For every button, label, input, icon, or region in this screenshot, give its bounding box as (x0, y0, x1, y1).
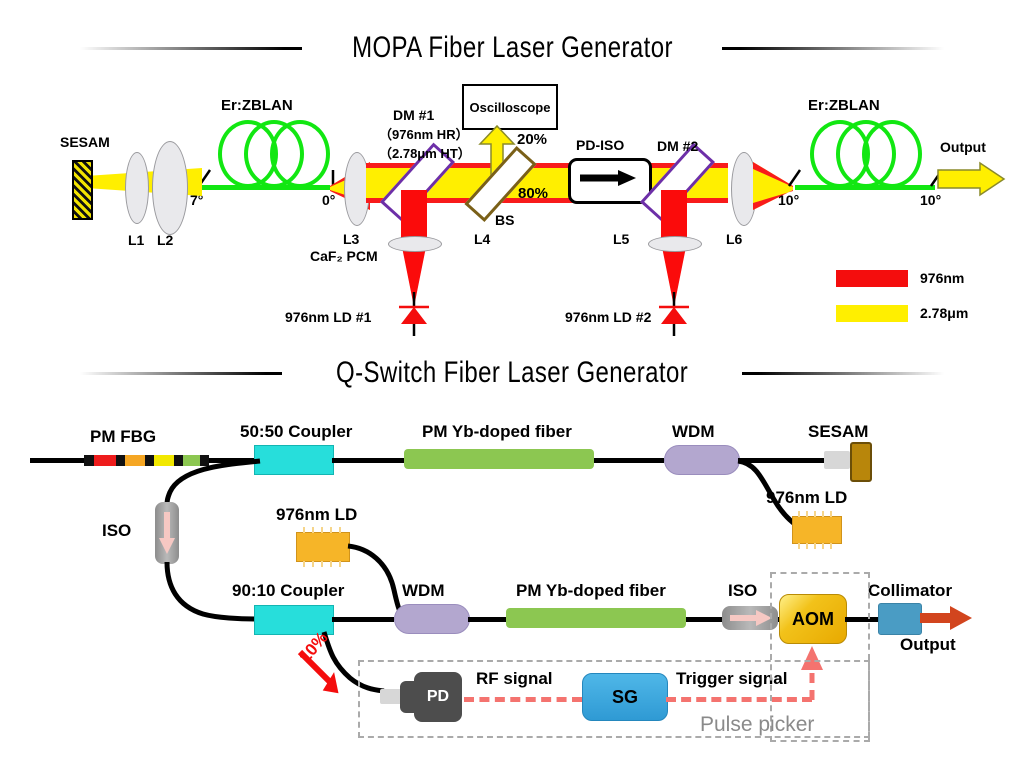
label-transmit-80: 80% (518, 186, 548, 201)
wdm-top (664, 445, 740, 475)
mopa-title-text: MOPA Fiber Laser Generator (344, 31, 681, 65)
label-ld-mid: 976nm LD (276, 506, 357, 523)
label-wdm-top: WDM (672, 423, 714, 440)
angle-10deg-left: 10° (778, 193, 799, 207)
legend-label-278: 2.78μm (920, 306, 968, 320)
qswitch-title-text: Q-Switch Fiber Laser Generator (328, 356, 696, 390)
fiber-yb-to-wdm-top (594, 458, 664, 463)
label-l6: L6 (726, 232, 742, 246)
section-title-qswitch: Q-Switch Fiber Laser Generator (0, 353, 1024, 393)
sesam-mirror (72, 160, 93, 220)
fbg-segment (116, 455, 125, 466)
lens-l1 (125, 152, 149, 224)
label-l3: L3 (343, 232, 359, 246)
wdm-bottom (394, 604, 470, 634)
title-rule-left-2 (80, 372, 282, 375)
fiber-coupler-to-wdm-bottom (332, 617, 394, 622)
label-l5: L5 (613, 232, 629, 246)
caf2-pcm-text: CaF₂ PCM (310, 248, 378, 264)
pump-beam-dm2 (661, 190, 687, 242)
fiber-top-left-lead (30, 458, 84, 463)
lens-l2 (152, 141, 188, 235)
legend-label-976: 976nm (920, 271, 964, 285)
section-title-mopa: MOPA Fiber Laser Generator (0, 28, 1024, 68)
label-coupler-50-50: 50:50 Coupler (240, 423, 352, 440)
angle-10deg-right: 10° (920, 193, 941, 207)
pm-yb-fiber-top (404, 449, 594, 469)
label-wdm-bottom: WDM (402, 582, 444, 599)
er-zblan-coil-right (810, 120, 922, 188)
label-reflect-20: 20% (517, 132, 547, 147)
laser-diode-2-symbol (655, 292, 695, 336)
laser-diode-1-symbol (395, 292, 435, 336)
legend-swatch-278 (836, 305, 908, 322)
label-sesam-bottom: SESAM (808, 423, 868, 440)
pm-yb-fiber-bottom (506, 608, 686, 628)
output-arrow-top (938, 163, 1004, 195)
label-dm1-spec-hr: （976nm HR） (379, 128, 469, 141)
ld-chip-top[interactable] (792, 516, 842, 544)
label-yb-fiber-bottom: PM Yb-doped fiber (516, 582, 666, 599)
title-rule-right (722, 47, 944, 50)
label-l4: L4 (474, 232, 490, 246)
label-dm1-spec-ht: （2.78μm HT） (379, 147, 471, 160)
er-zblan-coil-left (218, 120, 330, 188)
label-yb-fiber-top: PM Yb-doped fiber (422, 423, 572, 440)
pump-beam-dm1 (401, 190, 427, 242)
lens-l4-collimator (388, 236, 442, 252)
label-l3-material: CaF₂ PCM (310, 249, 378, 263)
label-l1: L1 (128, 233, 144, 247)
label-ld-top: 976nm LD (766, 489, 847, 506)
lens-l5-collimator (648, 236, 702, 252)
fiber-wdm-to-yb-bottom (468, 617, 506, 622)
label-dm1: DM #1 (393, 108, 434, 122)
oscilloscope-box[interactable]: Oscilloscope (462, 84, 558, 130)
collimator-block (878, 603, 922, 635)
label-pulse-picker: Pulse picker (700, 714, 814, 735)
title-rule-right-2 (742, 372, 944, 375)
label-output-bottom: Output (900, 636, 956, 653)
fiber-coupler-to-yb-top (332, 458, 404, 463)
oscilloscope-label: Oscilloscope (470, 100, 551, 115)
fiber-yb-to-iso-right (686, 617, 722, 622)
label-iso-left: ISO (102, 522, 131, 539)
label-er-zblan-left: Er:ZBLAN (221, 98, 293, 113)
label-l2: L2 (157, 233, 173, 247)
isolator-right-arrow (730, 610, 772, 626)
label-collimator: Collimator (868, 582, 952, 599)
sesam-chip (850, 442, 872, 482)
label-iso-right: ISO (728, 582, 757, 599)
label-pd-iso: PD-ISO (576, 138, 624, 152)
output-arrow-bottom (920, 606, 972, 630)
fbg-segment (94, 455, 116, 466)
fiber-fbg-to-iso (138, 458, 268, 508)
label-bs: BS (495, 213, 514, 227)
label-dm2: DM #2 (657, 139, 698, 153)
label-ld1: 976nm LD #1 (285, 310, 371, 324)
label-output-top: Output (940, 140, 986, 154)
label-sesam-top: SESAM (60, 135, 110, 149)
label-pm-fbg: PM FBG (90, 428, 156, 445)
label-ld2: 976nm LD #2 (565, 310, 651, 324)
ld-chip-mid[interactable] (296, 532, 350, 562)
title-rule-left (80, 47, 302, 50)
isolator-left-arrow (159, 512, 175, 554)
fbg-segment (84, 455, 94, 466)
label-coupler-90-10: 90:10 Coupler (232, 582, 344, 599)
isolator-direction-arrow (580, 170, 636, 186)
label-er-zblan-right: Er:ZBLAN (808, 98, 880, 113)
legend-swatch-976 (836, 270, 908, 287)
